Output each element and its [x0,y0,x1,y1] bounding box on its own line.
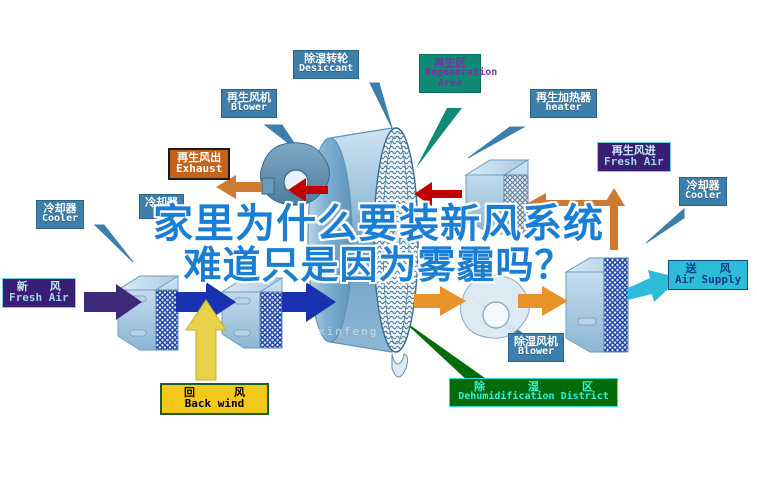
arrow-dehumid-out-1 [414,286,466,316]
label-fresh-air-in-en: Fresh Air [9,292,69,303]
diagram-canvas: 除湿转轮 Desiccant 再生风机 Blower 再生区 Regenerat… [0,0,757,488]
label-cooler-mid-cn: 冷却器 [145,197,178,208]
label-regeneration-area[interactable]: 再生区 Regeneration Area [419,54,481,93]
label-desiccant-rotor-en: Desiccant [299,64,353,74]
label-air-supply[interactable]: 送 风 Air Supply [668,260,748,290]
label-fresh-air-in[interactable]: 新 风 Fresh Air [2,278,76,308]
left-cooler-unit [118,276,178,350]
arrow-regen-fresh-up [603,188,625,250]
label-back-wind[interactable]: 回 风 Back wind [160,383,269,415]
label-regeneration-area-en: Regeneration Area [425,68,475,89]
label-regen-fresh-air-in[interactable]: 再生风进 Fresh Air [597,142,671,172]
label-cooler-left[interactable]: 冷却器 Cooler [36,200,84,229]
label-regeneration-blower[interactable]: 再生风机 Blower [221,89,277,118]
label-regeneration-heater[interactable]: 再生加热器 heater [530,89,597,118]
label-air-supply-en: Air Supply [675,274,741,285]
label-cooler-left-en: Cooler [42,214,78,224]
label-cooler-mid[interactable]: 冷却器 [139,194,184,219]
label-dehumid-blower-en: Blower [514,347,558,357]
schematic-illustration [0,0,757,488]
label-exhaust[interactable]: 再生风出 Exhaust [168,148,230,180]
label-dehumid-blower[interactable]: 除湿风机 Blower [508,333,564,362]
label-regeneration-blower-en: Blower [227,103,271,113]
mid-cooler-unit [222,278,282,348]
regeneration-heater-unit [466,160,528,234]
label-dehumidification-district-en: Dehumidification District [458,392,609,402]
label-regeneration-heater-en: heater [536,103,591,113]
label-back-wind-en: Back wind [170,398,259,409]
label-cooler-right[interactable]: 冷却器 Cooler [679,177,727,206]
label-desiccant-rotor[interactable]: 除湿转轮 Desiccant [293,50,359,79]
supply-filter-unit [566,258,628,352]
label-dehumidification-district[interactable]: 除 湿 区 Dehumidification District [449,378,618,407]
arrow-regen-to-rotor-2 [414,180,462,208]
label-exhaust-en: Exhaust [176,163,222,174]
label-regen-fresh-air-in-en: Fresh Air [604,156,664,167]
label-cooler-right-en: Cooler [685,191,721,201]
